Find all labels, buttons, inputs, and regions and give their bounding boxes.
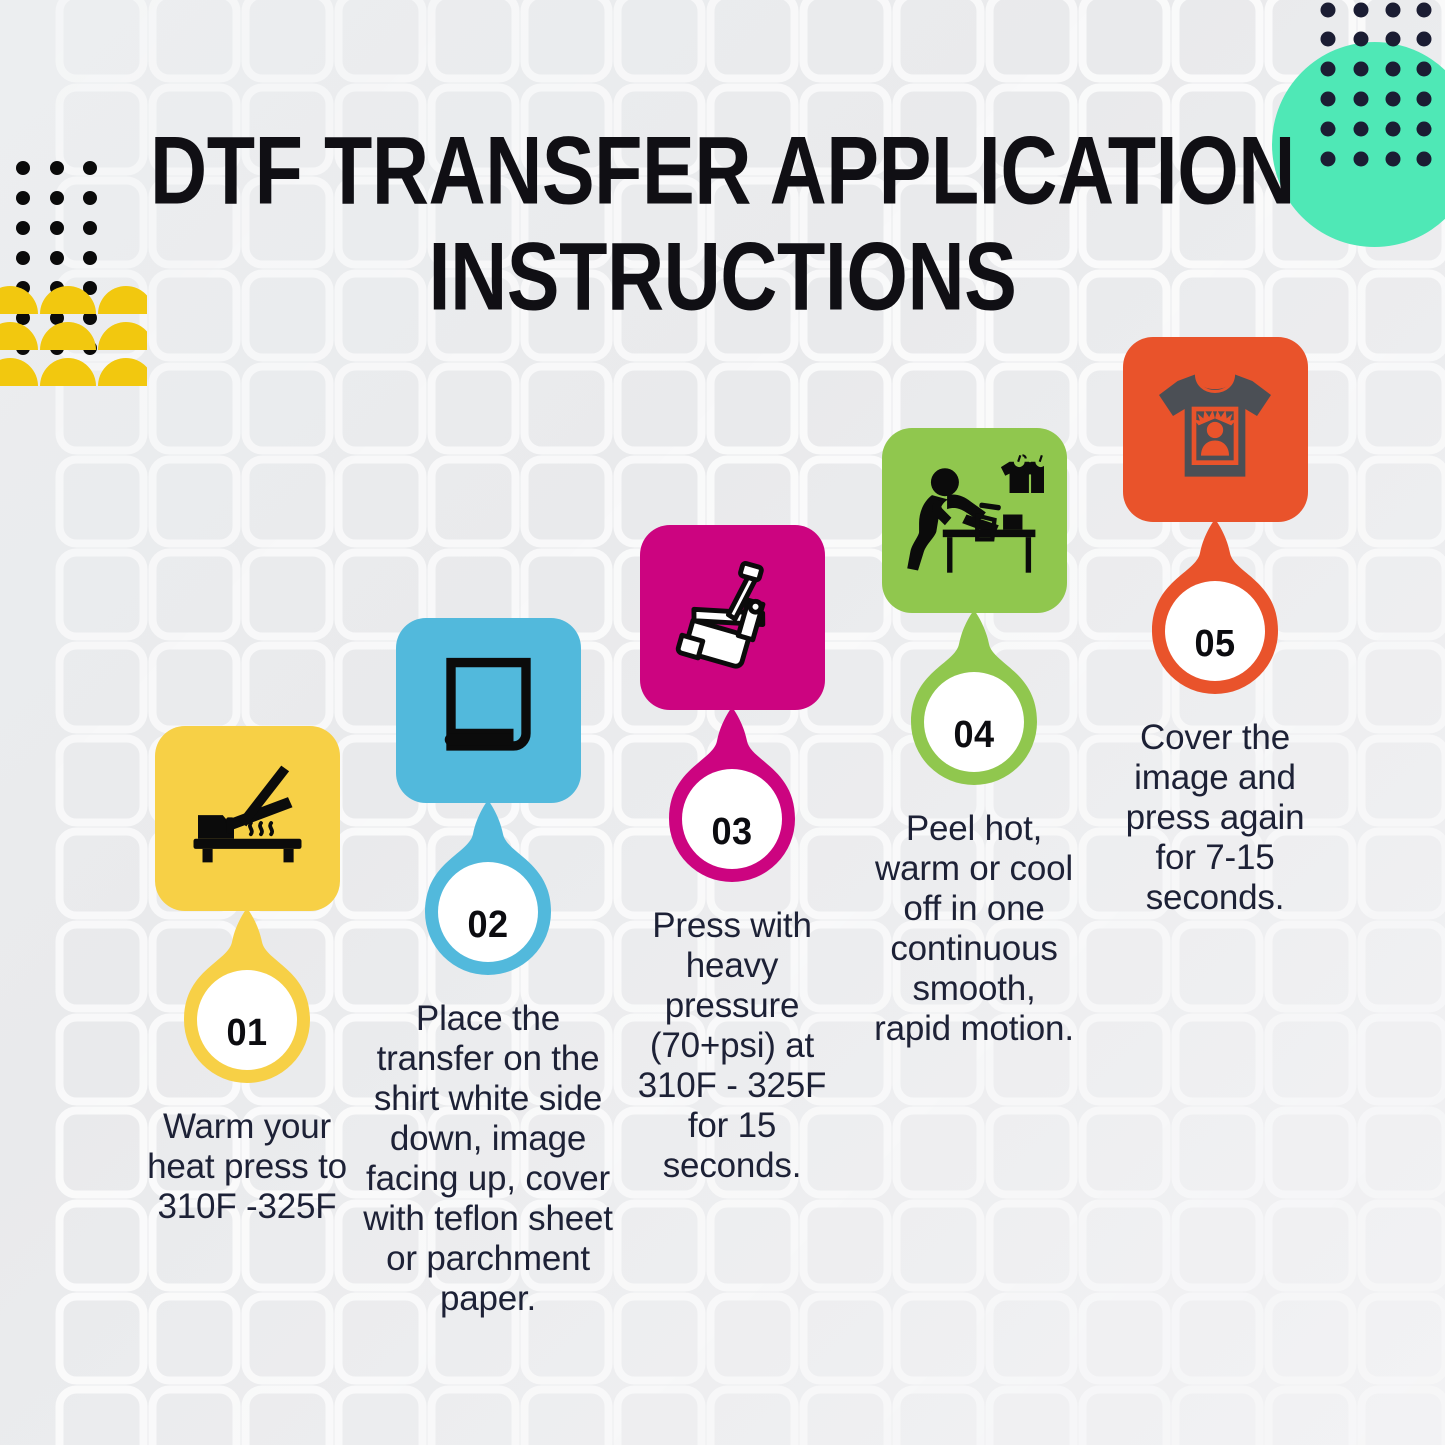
step-04-icon-card — [882, 428, 1067, 613]
step-02-connector: 02 — [403, 800, 573, 985]
step-01-connector: 01 — [162, 908, 332, 1093]
step-item-01: 01 Warm your heat press to 310F -325F — [122, 726, 372, 1227]
heat-press-open-icon — [180, 751, 315, 886]
step-05-icon-card — [1123, 337, 1308, 522]
step-02-text: Place the transfer on the shirt white si… — [357, 999, 619, 1319]
heat-press-machine-icon — [667, 553, 797, 683]
poster-canvas: DTF TRANSFER APPLICATION INSTRUCTIONS — [0, 0, 1445, 1445]
printed-tshirt-icon — [1145, 360, 1285, 500]
step-05-connector: 05 — [1130, 519, 1300, 704]
step-03-icon-card — [640, 525, 825, 710]
step-item-04: 04 Peel hot, warm or cool off in one con… — [849, 428, 1099, 1049]
step-03-number: 03 — [651, 811, 813, 854]
step-01-text: Warm your heat press to 310F -325F — [127, 1107, 367, 1227]
step-item-03: 03 Press with heavy pressure (70+psi) at… — [607, 525, 857, 1186]
step-03-text: Press with heavy pressure (70+psi) at 31… — [617, 906, 847, 1186]
step-04-connector: 04 — [889, 610, 1059, 795]
title-line-2: INSTRUCTIONS — [58, 229, 1387, 325]
step-02-number: 02 — [407, 904, 569, 947]
worker-peeling-icon — [904, 451, 1044, 591]
step-02-icon-card — [396, 618, 581, 803]
step-04-text: Peel hot, warm or cool off in one contin… — [872, 809, 1077, 1049]
step-03-connector: 03 — [647, 707, 817, 892]
step-05-number: 05 — [1134, 623, 1296, 666]
step-05-text: Cover the image and press again for 7-15… — [1109, 718, 1321, 918]
transfer-sheet-icon — [426, 648, 551, 773]
title-line-1: DTF TRANSFER APPLICATION — [58, 123, 1387, 219]
step-item-02: 02 Place the transfer on the shirt white… — [363, 618, 613, 1319]
step-item-05: 05 Cover the image and press again for 7… — [1090, 337, 1340, 918]
step-04-number: 04 — [893, 714, 1055, 757]
step-01-icon-card — [155, 726, 340, 911]
step-01-number: 01 — [166, 1012, 328, 1055]
poster-title: DTF TRANSFER APPLICATION INSTRUCTIONS — [0, 128, 1445, 320]
